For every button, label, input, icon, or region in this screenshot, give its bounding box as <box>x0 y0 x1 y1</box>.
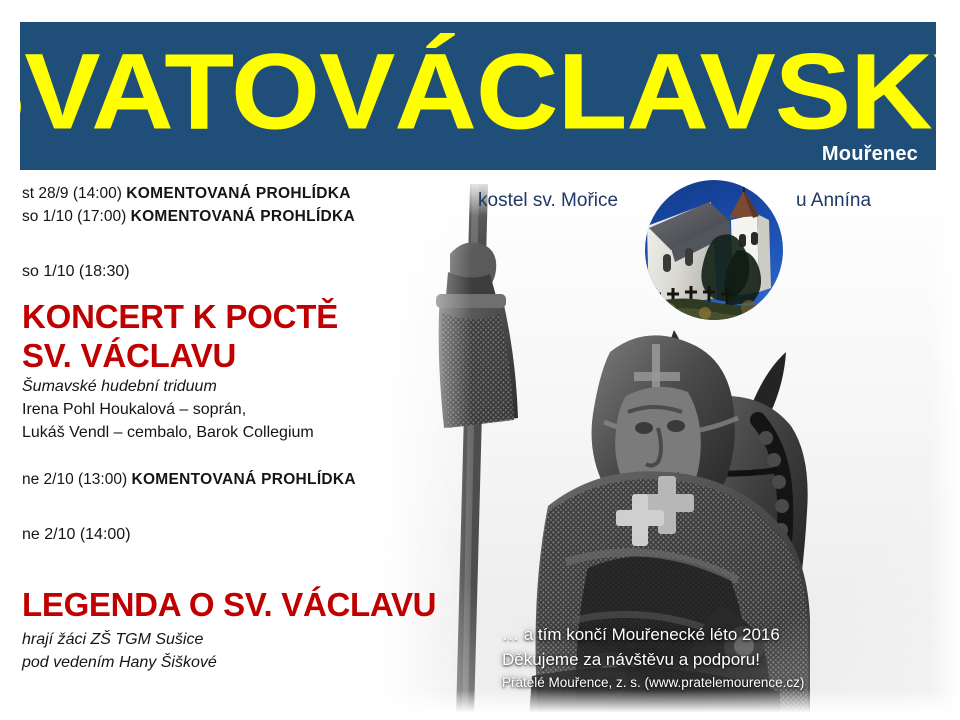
concert-performer-2: Lukáš Vendl – cembalo, Barok Collegium <box>22 421 452 444</box>
poster: kostel sv. Mořice u Annína st 28/9 (14:0… <box>0 0 960 720</box>
concert-performer-1: Irena Pohl Houkalová – soprán, <box>22 398 452 421</box>
tour-3-date: ne 2/10 (13:00) <box>22 471 127 488</box>
poster-title: SVATOVÁCLAVSKÝ <box>20 38 936 146</box>
church-photo-circle <box>645 180 783 320</box>
tour-1-label: KOMENTOVANÁ PROHLÍDKA <box>126 185 350 202</box>
footer-message: … a tím končí Mouřenecké léto 2016 Děkuj… <box>502 622 804 694</box>
play-credits: hrají žáci ZŠ TGM Sušice pod vedením Han… <box>22 628 452 674</box>
spacer <box>22 283 452 297</box>
header-banner: SVATOVÁCLAVSKÝ Mouřenec <box>20 22 936 170</box>
spacer <box>22 228 452 260</box>
tour-entry-1: st 28/9 (14:00) KOMENTOVANÁ PROHLÍDKA <box>22 182 452 205</box>
tour-3-label: KOMENTOVANÁ PROHLÍDKA <box>131 471 355 488</box>
footer-line-2: Děkujeme za návštěvu a podporu! <box>502 647 804 672</box>
caption-church-name: kostel sv. Mořice <box>478 190 618 212</box>
poster-subtitle: Mouřenec <box>822 143 918 166</box>
concert-date: so 1/10 (18:30) <box>22 260 452 283</box>
concert-title-line-1: KONCERT K POCTĚ <box>22 297 452 336</box>
footer-line-3: Přátelé Mouřence, z. s. (www.pratelemour… <box>502 672 804 694</box>
programme-column: st 28/9 (14:00) KOMENTOVANÁ PROHLÍDKA so… <box>22 182 452 546</box>
footer-line-1: … a tím končí Mouřenecké léto 2016 <box>502 622 804 647</box>
church-photo-graphic <box>645 180 783 320</box>
tour-1-date: st 28/9 (14:00) <box>22 185 122 202</box>
tour-entry-3: ne 2/10 (13:00) KOMENTOVANÁ PROHLÍDKA <box>22 468 452 491</box>
spacer <box>22 444 452 468</box>
tour-2-date: so 1/10 (17:00) <box>22 208 126 225</box>
play-date: ne 2/10 (14:00) <box>22 523 452 546</box>
concert-title-line-2: SV. VÁCLAVU <box>22 336 452 375</box>
spacer <box>22 491 452 523</box>
concert-ensemble: Šumavské hudební triduum <box>22 375 452 398</box>
play-title: LEGENDA O SV. VÁCLAVU <box>22 586 436 624</box>
tour-entry-2: so 1/10 (17:00) KOMENTOVANÁ PROHLÍDKA <box>22 205 452 228</box>
tour-2-label: KOMENTOVANÁ PROHLÍDKA <box>131 208 355 225</box>
concert-title: KONCERT K POCTĚ SV. VÁCLAVU <box>22 297 452 375</box>
play-credit-1: hrají žáci ZŠ TGM Sušice <box>22 628 452 651</box>
caption-location: u Annína <box>796 190 871 212</box>
play-credit-2: pod vedením Hany Šiškové <box>22 651 452 674</box>
